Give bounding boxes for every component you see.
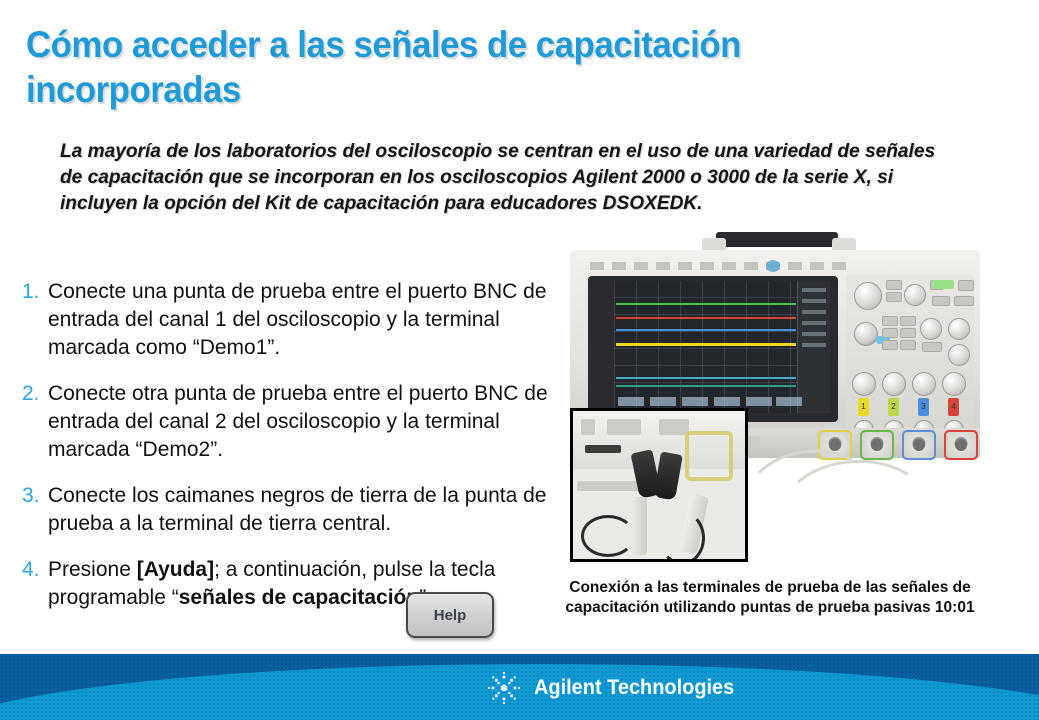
scope-menu-sidepanel xyxy=(797,281,830,413)
channel-2-button: 2 xyxy=(888,398,899,416)
waveform-trace-channel-2 xyxy=(616,303,796,305)
list-item: 2. Conecte otra punta de prueba entre el… xyxy=(18,380,563,464)
bnc-connector-channel-4 xyxy=(944,430,978,460)
list-item: 1. Conecte una punta de prueba entre el … xyxy=(18,278,563,362)
scope-display xyxy=(614,281,830,413)
ground-lead-wire xyxy=(581,515,635,557)
waveform-trace-channel-4 xyxy=(616,317,796,319)
steps-list: 1. Conecte una punta de prueba entre el … xyxy=(18,278,563,630)
photo-caption: Conexión a las terminales de prueba de l… xyxy=(548,578,992,618)
bnc-connector-channel-2 xyxy=(860,430,894,460)
list-item: 3. Conecte los caimanes negros de tierra… xyxy=(18,482,563,538)
channel-3-button: 3 xyxy=(918,398,929,416)
footer-bar: Agilent Technologies xyxy=(0,654,1039,720)
page-title: Cómo acceder a las señales de capacitaci… xyxy=(26,22,928,112)
aux-knob xyxy=(948,344,970,366)
probe-lead-wire xyxy=(659,511,705,562)
channel-4-button: 4 xyxy=(948,398,959,416)
scope-brand-text xyxy=(590,262,850,270)
run-stop-indicator xyxy=(932,280,954,289)
horizontal-scale-knob xyxy=(854,282,882,310)
step-text: Conecte una punta de prueba entre el pue… xyxy=(48,278,563,362)
step-number: 1. xyxy=(18,278,48,306)
channel-1-button: 1 xyxy=(858,398,869,416)
waveform-trace-digital-2 xyxy=(616,385,796,387)
help-key-graphic: Help xyxy=(406,592,494,638)
channel-3-scale-knob xyxy=(912,372,936,396)
intro-paragraph: La mayoría de los laboratorios del oscil… xyxy=(60,138,942,216)
entry-knob xyxy=(854,322,878,346)
probe-closeup-inset xyxy=(570,408,748,562)
trigger-mode-knob xyxy=(948,318,970,340)
agilent-spark-icon xyxy=(484,668,524,708)
agilent-brand-text: Agilent Technologies xyxy=(534,676,734,700)
step-number: 4. xyxy=(18,556,48,584)
waveform-trace-channel-1 xyxy=(616,343,796,346)
agilent-logo: Agilent Technologies xyxy=(484,668,745,708)
step-text: Conecte los caimanes negros de tierra de… xyxy=(48,482,563,538)
scope-brand-logo-icon xyxy=(766,260,780,272)
bnc-connector-channel-3 xyxy=(902,430,936,460)
step-text: Conecte otra punta de prueba entre el pu… xyxy=(48,380,563,464)
trigger-level-knob xyxy=(920,318,942,340)
channel-2-scale-knob xyxy=(882,372,906,396)
oscilloscope-photo: 1 2 3 4 xyxy=(556,232,996,572)
waveform-trace-channel-3 xyxy=(616,329,796,331)
channel-1-scale-knob xyxy=(852,372,876,396)
demo-terminal-highlight xyxy=(685,431,733,481)
step-number: 3. xyxy=(18,482,48,510)
channel-4-scale-knob xyxy=(942,372,966,396)
waveform-trace-digital xyxy=(616,377,796,379)
scope-display-bezel xyxy=(588,276,838,422)
horizontal-position-knob xyxy=(904,284,926,306)
step-number: 2. xyxy=(18,380,48,408)
scope-handle-icon xyxy=(716,232,838,247)
scope-control-panel: 1 2 3 4 xyxy=(846,274,974,442)
